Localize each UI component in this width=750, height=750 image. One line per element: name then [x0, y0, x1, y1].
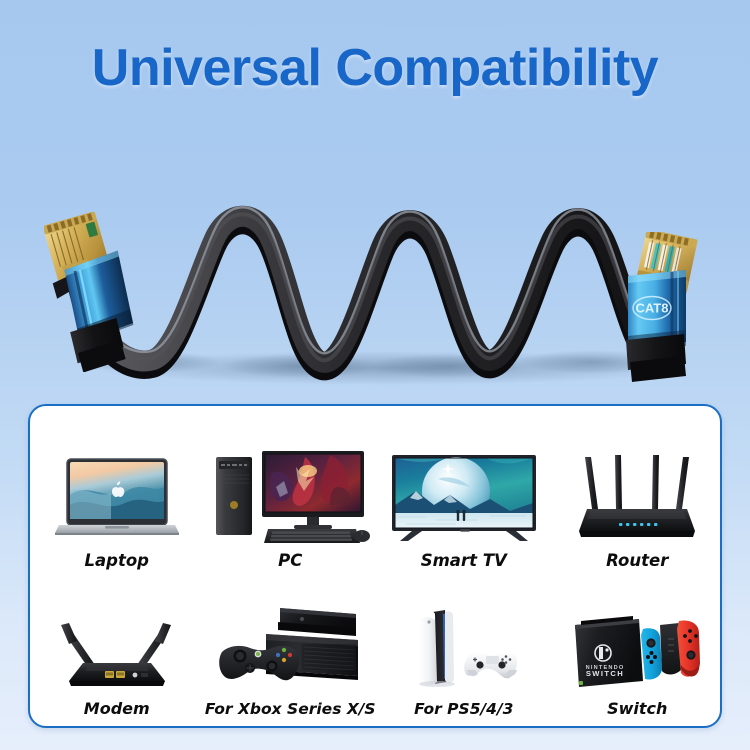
playstation-art — [377, 576, 551, 700]
xbox-controller — [219, 646, 299, 680]
switch-joycon-grip — [641, 621, 700, 680]
router-art — [551, 416, 725, 551]
device-label-playstation: For PS5/4/3 — [414, 700, 513, 724]
device-cell-router[interactable]: Router — [551, 416, 725, 576]
device-label-xbox: For Xbox Series X/S — [205, 700, 376, 724]
product-hero: CAT8 — [0, 100, 750, 400]
device-label-laptop: Laptop — [85, 551, 150, 576]
device-label-pc: PC — [278, 551, 302, 576]
svg-text:SWITCH: SWITCH — [586, 669, 624, 678]
device-cell-switch[interactable]: NINTENDO SWITCH — [551, 576, 725, 724]
device-cell-laptop[interactable]: Laptop — [30, 416, 204, 576]
device-cell-pc[interactable]: PC — [204, 416, 378, 576]
pc-art — [204, 416, 378, 551]
device-cell-smart-tv[interactable]: Smart TV — [377, 416, 551, 576]
device-cell-playstation[interactable]: For PS5/4/3 — [377, 576, 551, 724]
router-icon — [571, 451, 703, 547]
smart-tv-icon — [386, 451, 542, 547]
compatible-devices-card: Laptop — [28, 404, 722, 728]
desktop-pc-icon — [210, 443, 370, 547]
ps5-console — [419, 610, 455, 687]
switch-art: NINTENDO SWITCH — [551, 576, 725, 699]
rj45-connector-left — [44, 212, 139, 372]
modem-icon — [53, 607, 181, 695]
device-cell-modem[interactable]: Modem — [30, 576, 204, 724]
router-antennas — [585, 455, 689, 509]
dualsense-controller — [464, 652, 517, 678]
switch-dock: NINTENDO SWITCH — [575, 616, 643, 687]
smart-tv-art — [377, 416, 551, 551]
device-row-bottom: Modem — [30, 576, 724, 724]
device-label-modem: Modem — [84, 699, 150, 724]
device-cell-xbox[interactable]: For Xbox Series X/S — [204, 576, 378, 724]
rj45-connector-right: CAT8 — [612, 232, 717, 382]
xbox-art — [204, 576, 378, 700]
svg-text:CAT8: CAT8 — [636, 301, 669, 316]
device-row-top: Laptop — [30, 416, 724, 576]
device-label-router: Router — [606, 551, 668, 576]
laptop-icon — [53, 451, 181, 547]
page-title: Universal Compatibility — [0, 38, 750, 98]
modem-art — [30, 576, 204, 699]
device-label-switch: Switch — [607, 699, 667, 724]
xbox-console-icon — [206, 604, 374, 696]
playstation-console-icon — [399, 604, 529, 696]
nintendo-switch-icon: NINTENDO SWITCH — [567, 607, 707, 695]
page-title-container: Universal Compatibility — [0, 38, 750, 98]
device-label-smart-tv: Smart TV — [421, 551, 507, 576]
laptop-art — [30, 416, 204, 551]
